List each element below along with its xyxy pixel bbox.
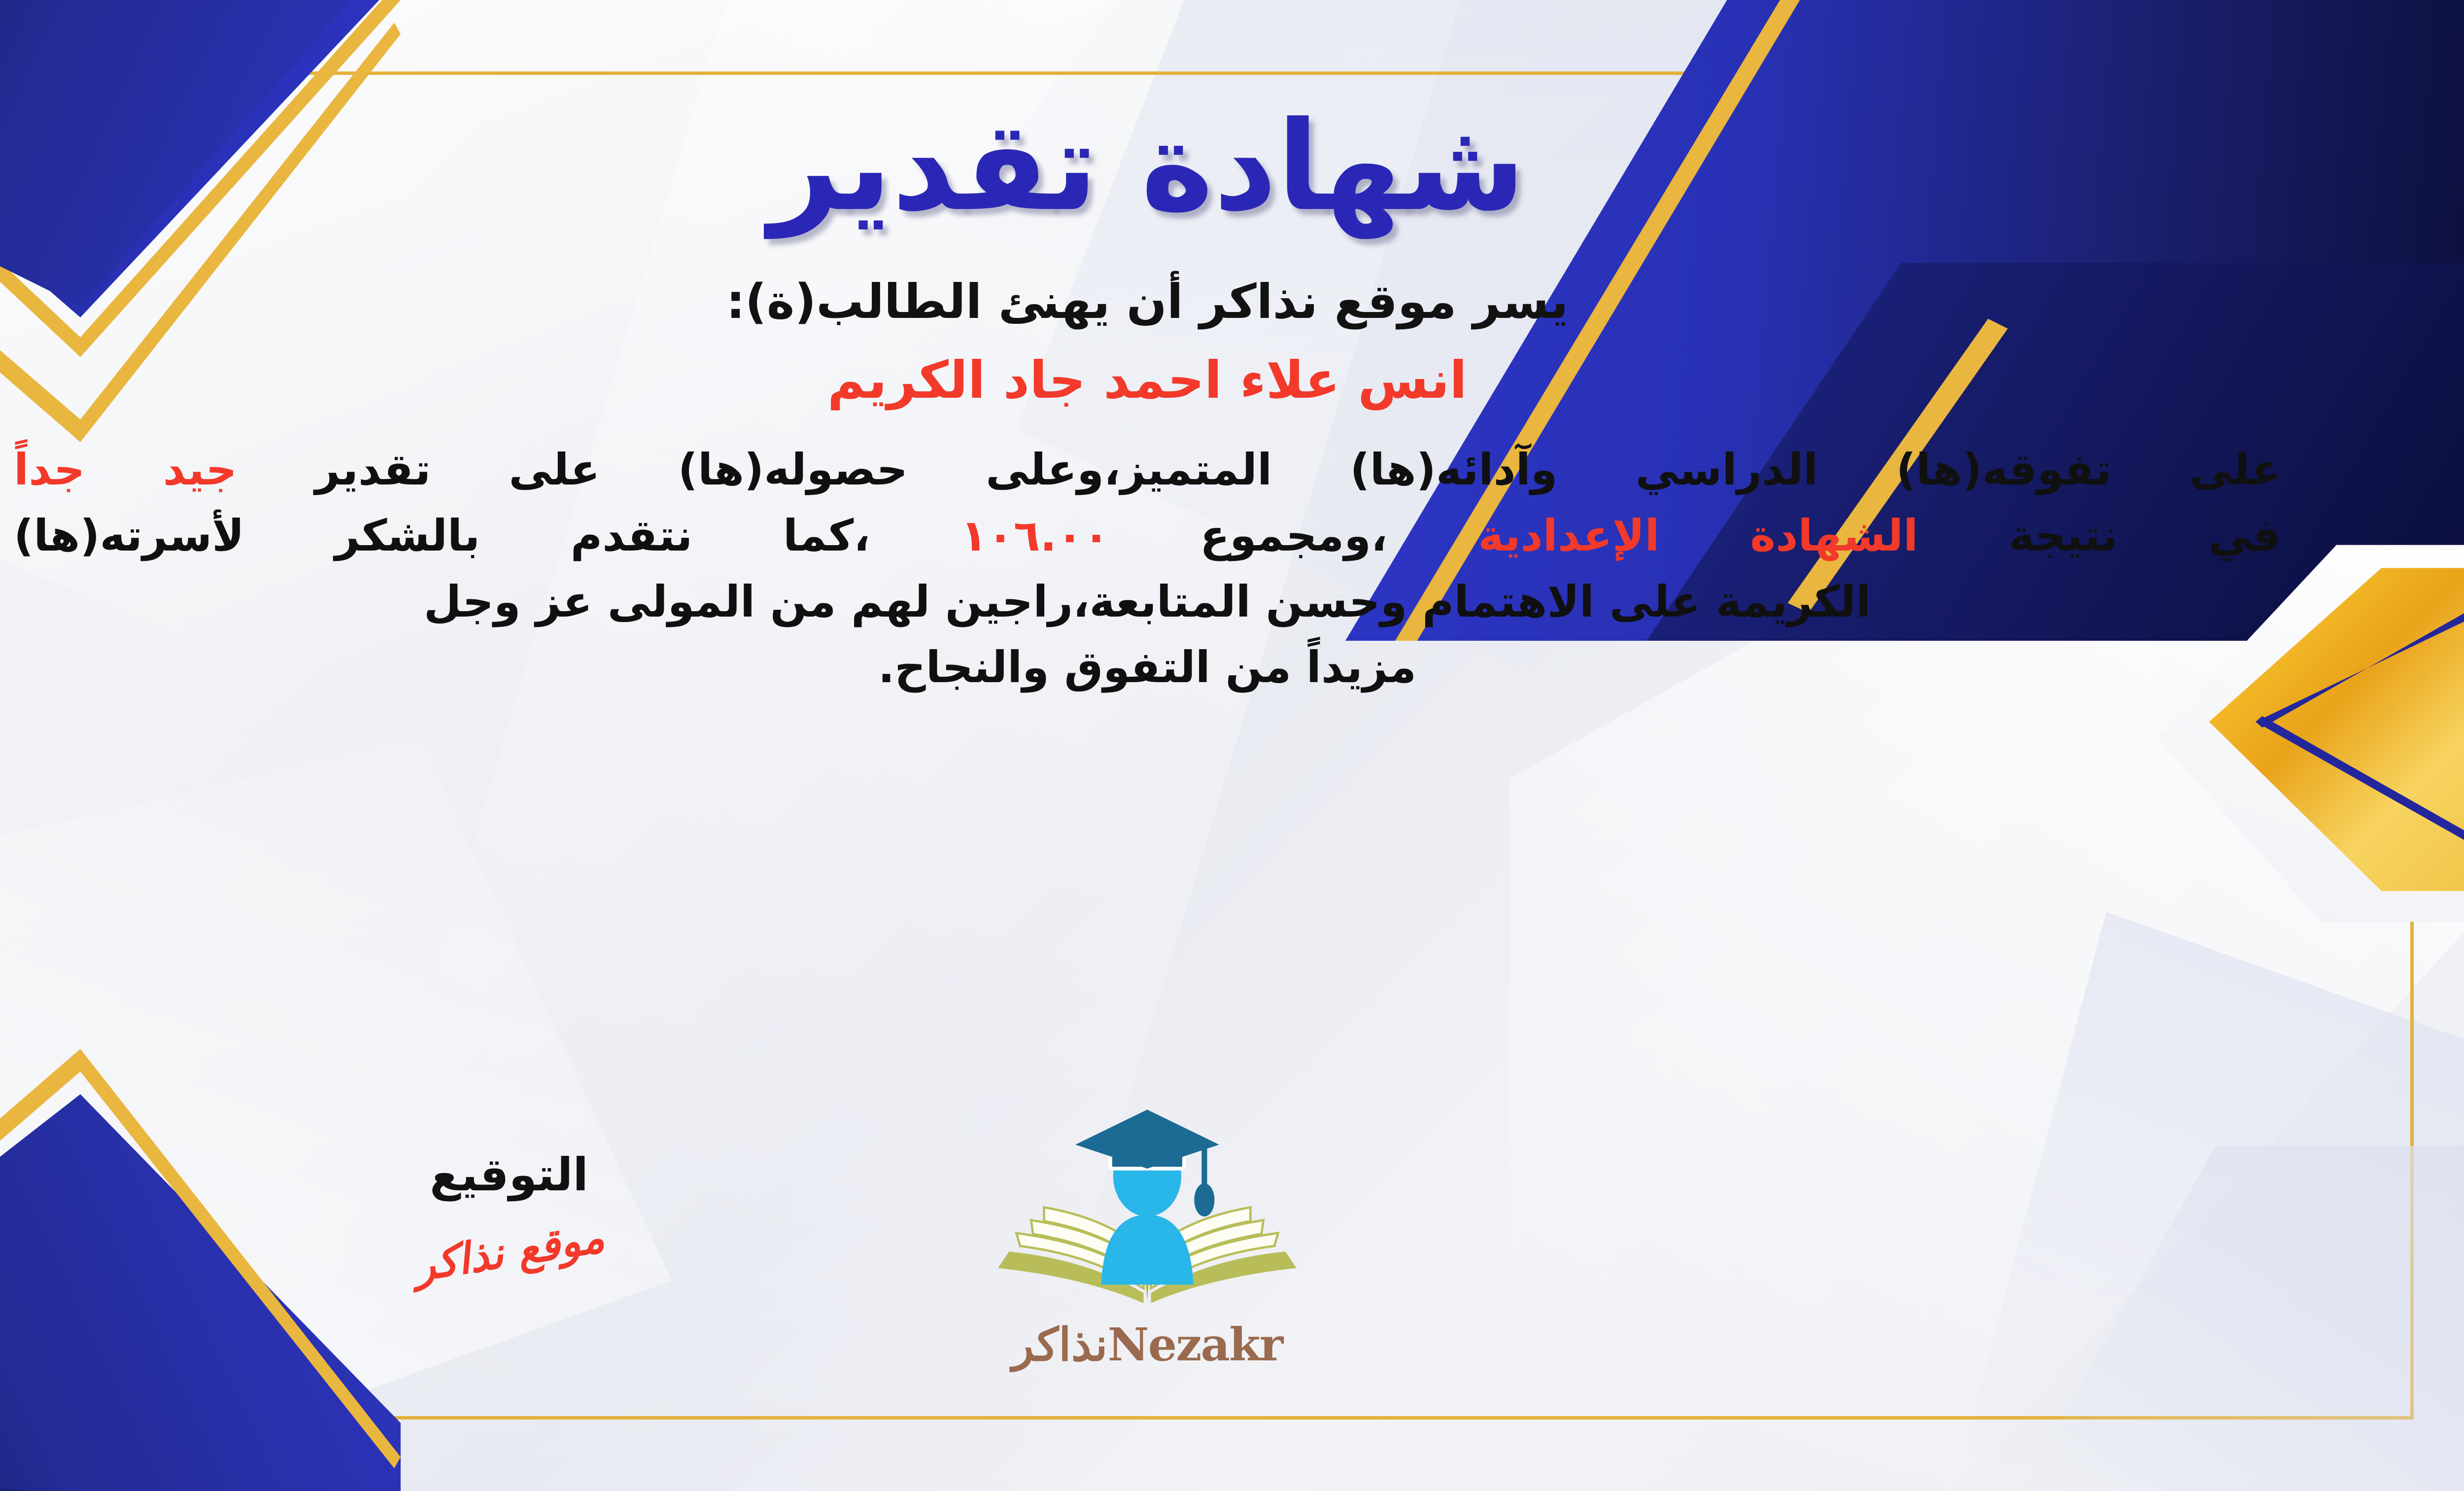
nezakr-logo: Nezakrنذاكر (960, 1104, 1335, 1385)
body-line-2-mid: ،ومجموع (1200, 510, 1387, 561)
certificate-footer: التوقيع موقع نذاكر (0, 1075, 2382, 1390)
logo-text-latin: Nezakr (1108, 1318, 1283, 1371)
body-line-2-prefix: في نتيجة (2009, 510, 2281, 561)
student-name: انس علاء احمد جاد الكريم (0, 350, 2382, 410)
body-line-2: في نتيجة الشهادة الإعدادية ،ومجموع ١٠٦.٠… (14, 503, 2281, 569)
signature-label: التوقيع (351, 1148, 667, 1201)
certificate-title: شهادة تقدير (0, 98, 2382, 236)
mortarboard (1075, 1110, 1219, 1169)
exam-name: الشهادة الإعدادية (1478, 510, 1918, 561)
intro-line: يسر موقع نذاكر أن يهنئ الطالب(ة): (0, 274, 2382, 329)
grade-value: جيد جداً (14, 444, 237, 495)
student-body (1101, 1214, 1194, 1284)
graduate-book-icon (960, 1104, 1335, 1316)
signature-block: التوقيع موقع نذاكر (351, 1148, 667, 1277)
signature-mark: موقع نذاكر (349, 1203, 669, 1301)
logo-wordmark: Nezakrنذاكر (960, 1318, 1335, 1371)
certificate-content: شهادة تقدير يسر موقع نذاكر أن يهنئ الطال… (0, 79, 2382, 1410)
logo-text-arabic: نذاكر (1012, 1318, 1108, 1371)
body-line-1-text: على تفوقه(ها) الدراسي وآدائه(ها) المتميز… (315, 444, 2281, 495)
total-score: ١٠٦.٠٠ (960, 510, 1109, 561)
body-line-4: مزيداً من التفوق والنجاح. (14, 634, 2281, 700)
graduate-book-svg (960, 1104, 1335, 1316)
body-paragraph: على تفوقه(ها) الدراسي وآدائه(ها) المتميز… (14, 437, 2281, 700)
body-line-1: على تفوقه(ها) الدراسي وآدائه(ها) المتميز… (14, 437, 2281, 503)
body-line-3: الكريمة على الاهتمام وحسن المتابعة،راجين… (14, 569, 2281, 635)
tassel (1194, 1183, 1214, 1216)
body-line-2-suffix: ،كما نتقدم بالشكر لأسرته(ها) (14, 510, 870, 561)
certificate-canvas: شهادة تقدير يسر موقع نذاكر أن يهنئ الطال… (0, 0, 2464, 1491)
